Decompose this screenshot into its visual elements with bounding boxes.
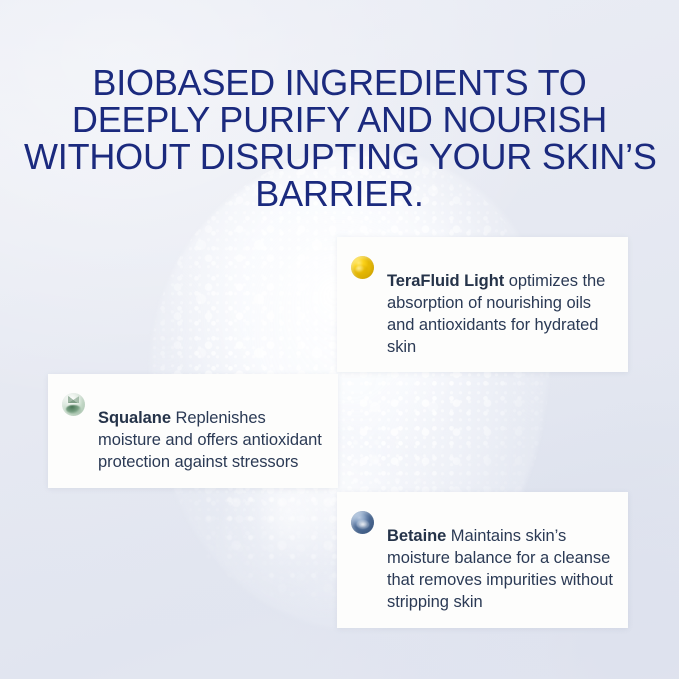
headline-line-4: BARRIER. bbox=[24, 175, 655, 212]
ingredient-name: Squalane bbox=[98, 409, 171, 427]
ingredient-card-tera-fluid-light: TeraFluid Light optimizes the absorption… bbox=[337, 237, 628, 372]
ingredient-card-betaine: Betaine Maintains skin’s moisture balanc… bbox=[337, 492, 628, 628]
headline-line-1: BIOBASED INGREDIENTS TO bbox=[24, 64, 655, 101]
ingredient-card-text: TeraFluid Light optimizes the absorption… bbox=[387, 270, 614, 358]
headline-line-2: DEEPLY PURIFY AND NOURISH bbox=[24, 101, 655, 138]
ingredient-droplet-icon-yellow bbox=[351, 256, 374, 279]
headline-line-3: WITHOUT DISRUPTING YOUR SKIN’S bbox=[24, 138, 655, 175]
ingredient-name: TeraFluid Light bbox=[387, 272, 504, 290]
headline: BIOBASED INGREDIENTS TO DEEPLY PURIFY AN… bbox=[0, 64, 679, 212]
ingredient-card-squalane: Squalane Replenishes moisture and offers… bbox=[48, 374, 338, 488]
ingredient-olive-icon-green bbox=[62, 393, 85, 416]
ingredient-sphere-icon-blue bbox=[351, 511, 374, 534]
ingredient-name: Betaine bbox=[387, 527, 446, 545]
ingredient-card-text: Betaine Maintains skin’s moisture balanc… bbox=[387, 525, 614, 613]
ingredient-benefits-infographic: BIOBASED INGREDIENTS TO DEEPLY PURIFY AN… bbox=[0, 0, 679, 679]
ingredient-card-text: Squalane Replenishes moisture and offers… bbox=[98, 407, 324, 473]
